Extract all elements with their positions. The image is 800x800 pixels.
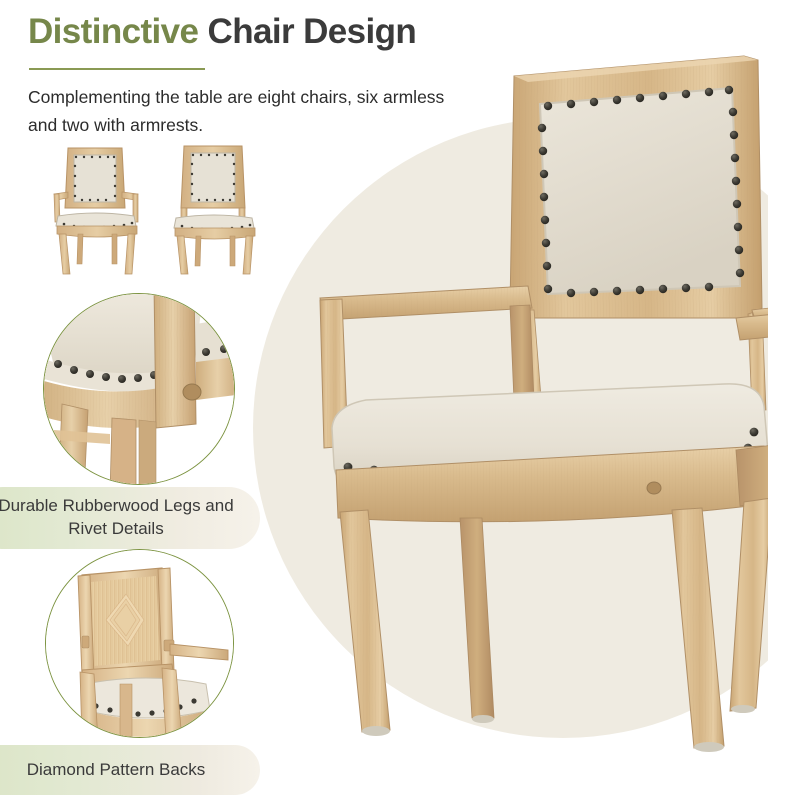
- feature-label-text: Diamond Pattern Backs: [27, 759, 206, 782]
- infographic-canvas: Distinctive Chair Design Complementing t…: [0, 0, 800, 800]
- feature-label-text: Durable Rubberwood Legs and Rivet Detail…: [0, 495, 242, 541]
- feature-photo-rubberwood-legs: [43, 293, 235, 485]
- armless-chair-thumbnail: [166, 138, 266, 278]
- page-title-accent: Distinctive: [28, 12, 198, 51]
- armchair-thumbnail: [48, 138, 148, 278]
- page-title-rest: Chair Design: [208, 12, 417, 51]
- right-edge-mask: [768, 0, 800, 800]
- page-subtitle: Complementing the table are eight chairs…: [28, 83, 448, 140]
- title-divider: [29, 68, 205, 70]
- chair-thumbnail-row: [48, 138, 268, 278]
- feature-label-rubberwood-legs: Durable Rubberwood Legs and Rivet Detail…: [0, 487, 260, 549]
- feature-photo-diamond-pattern: [45, 549, 234, 738]
- feature-label-diamond-pattern: Diamond Pattern Backs: [0, 745, 260, 795]
- page-title: Distinctive Chair Design: [28, 14, 416, 51]
